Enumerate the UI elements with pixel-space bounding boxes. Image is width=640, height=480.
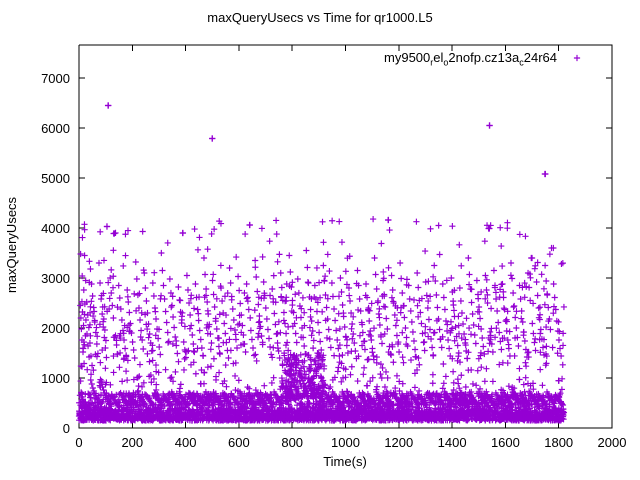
x-tick-label: 800 <box>281 435 303 450</box>
y-tick-label: 6000 <box>41 121 70 136</box>
y-tick-label: 3000 <box>41 271 70 286</box>
scatter-plot-canvas: maxQueryUsecs vs Time for qr1000.L5 0100… <box>0 0 640 480</box>
x-tick-label: 600 <box>228 435 250 450</box>
x-tick-label: 0 <box>75 435 82 450</box>
x-tick-label: 2000 <box>598 435 627 450</box>
x-tick-label: 400 <box>175 435 197 450</box>
y-tick-label: 2000 <box>41 321 70 336</box>
x-tick-label: 1600 <box>491 435 520 450</box>
y-tick-label: 5000 <box>41 171 70 186</box>
x-tick-label: 1000 <box>331 435 360 450</box>
chart-title: maxQueryUsecs vs Time for qr1000.L5 <box>207 10 432 25</box>
chart-container: maxQueryUsecs vs Time for qr1000.L5 0100… <box>0 0 640 480</box>
y-tick-label: 1000 <box>41 371 70 386</box>
y-tick-label: 4000 <box>41 221 70 236</box>
y-tick-label: 0 <box>63 421 70 436</box>
x-tick-label: 200 <box>121 435 143 450</box>
x-tick-label: 1800 <box>544 435 573 450</box>
x-tick-label: 1400 <box>438 435 467 450</box>
x-tick-label: 1200 <box>384 435 413 450</box>
y-tick-label: 7000 <box>41 71 70 86</box>
